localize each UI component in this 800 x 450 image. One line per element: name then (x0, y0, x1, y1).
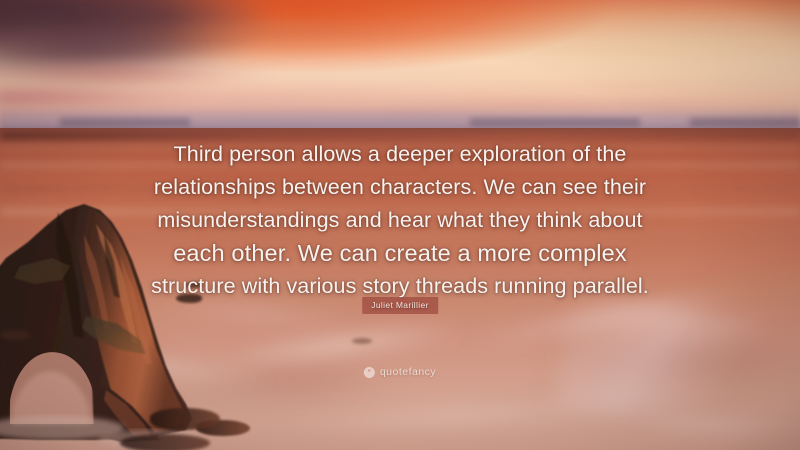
quote-line: each other. We can create a more complex (100, 237, 700, 270)
distant-landmass (60, 118, 190, 127)
quote-line: misunderstandings and hear what they thi… (100, 204, 700, 237)
distant-landmass (470, 118, 640, 127)
cloud-streak (0, 92, 380, 104)
wet-sand-sheen (500, 318, 800, 398)
quote-poster: Third person allows a deeper exploration… (0, 0, 800, 450)
watermark-label: quotefancy (380, 366, 436, 378)
cloud-streak (460, 82, 800, 90)
cloud-streak (120, 24, 420, 40)
quote-line: relationships between characters. We can… (100, 171, 700, 204)
quotefancy-watermark[interactable]: “ quotefancy (364, 366, 436, 378)
quote-line: Third person allows a deeper exploration… (100, 138, 700, 171)
small-rock (352, 338, 372, 344)
author-badge[interactable]: Juliet Marillier (362, 297, 438, 314)
small-rock (0, 330, 30, 340)
distant-landmass (690, 118, 800, 127)
quote-text: Third person allows a deeper exploration… (100, 138, 700, 303)
small-rock (120, 434, 210, 450)
quote-mark-icon: “ (364, 367, 375, 378)
